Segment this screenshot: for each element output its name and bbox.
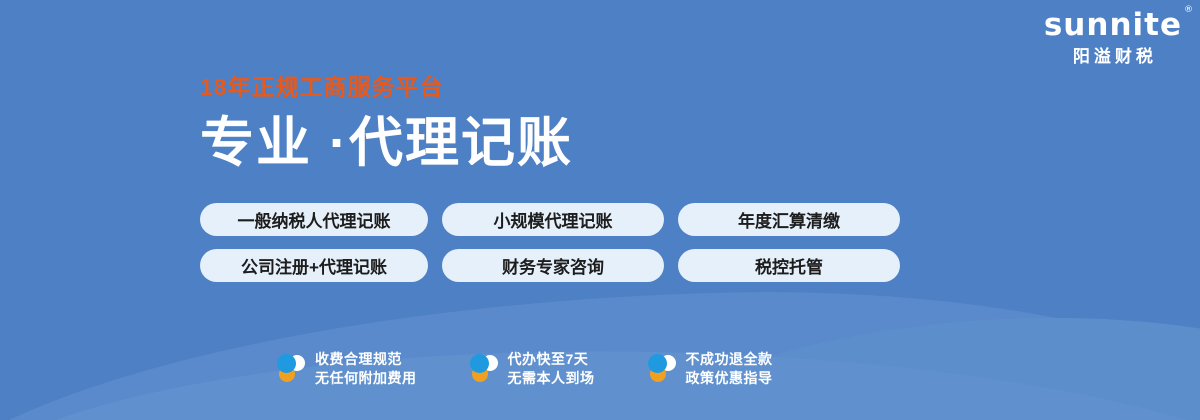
icon-blue-circle bbox=[470, 354, 489, 373]
service-tag[interactable]: 一般纳税人代理记账 bbox=[200, 203, 428, 236]
feature-item: 代办快至7天 无需本人到场 bbox=[469, 350, 595, 389]
service-tag-list: 一般纳税人代理记账 小规模代理记账 年度汇算清缴 公司注册+代理记账 财务专家咨… bbox=[200, 203, 900, 282]
registered-trademark-icon: ® bbox=[1184, 6, 1194, 15]
headline-block: 18年正规工商服务平台 专业 ·代理记账 bbox=[200, 76, 573, 172]
feature-line-2: 无需本人到场 bbox=[508, 369, 595, 388]
icon-blue-circle bbox=[648, 354, 667, 373]
eyebrow-text: 18年正规工商服务平台 bbox=[200, 76, 573, 99]
service-tag[interactable]: 小规模代理记账 bbox=[442, 203, 664, 236]
feature-strip: 收费合理规范 无任何附加费用 代办快至7天 无需本人到场 不成功退全款 bbox=[276, 350, 773, 389]
service-tag[interactable]: 年度汇算清缴 bbox=[678, 203, 900, 236]
feature-line-2: 无任何附加费用 bbox=[315, 369, 417, 388]
dual-circle-icon bbox=[647, 352, 677, 386]
service-tag-row: 一般纳税人代理记账 小规模代理记账 年度汇算清缴 bbox=[200, 203, 900, 236]
background-wave-upper bbox=[0, 276, 1200, 420]
promo-banner: sunnite® 阳溢财税 18年正规工商服务平台 专业 ·代理记账 一般纳税人… bbox=[0, 0, 1200, 420]
feature-text: 代办快至7天 无需本人到场 bbox=[508, 350, 595, 389]
feature-line-1: 代办快至7天 bbox=[508, 350, 595, 369]
feature-item: 收费合理规范 无任何附加费用 bbox=[276, 350, 417, 389]
service-tag[interactable]: 财务专家咨询 bbox=[442, 249, 664, 282]
feature-line-1: 不成功退全款 bbox=[686, 350, 773, 369]
feature-line-2: 政策优惠指导 bbox=[686, 369, 773, 388]
logo-chinese-name: 阳溢财税 bbox=[1044, 48, 1182, 65]
feature-item: 不成功退全款 政策优惠指导 bbox=[647, 350, 773, 389]
dual-circle-icon bbox=[469, 352, 499, 386]
feature-line-1: 收费合理规范 bbox=[315, 350, 417, 369]
dual-circle-icon bbox=[276, 352, 306, 386]
feature-text: 收费合理规范 无任何附加费用 bbox=[315, 350, 417, 389]
service-tag-row: 公司注册+代理记账 财务专家咨询 税控托管 bbox=[200, 249, 900, 282]
logo-wordmark: sunnite® bbox=[1044, 10, 1182, 41]
service-tag[interactable]: 公司注册+代理记账 bbox=[200, 249, 428, 282]
brand-logo[interactable]: sunnite® 阳溢财税 bbox=[1044, 10, 1182, 65]
page-title: 专业 ·代理记账 bbox=[200, 115, 573, 172]
feature-text: 不成功退全款 政策优惠指导 bbox=[686, 350, 773, 389]
service-tag[interactable]: 税控托管 bbox=[678, 249, 900, 282]
